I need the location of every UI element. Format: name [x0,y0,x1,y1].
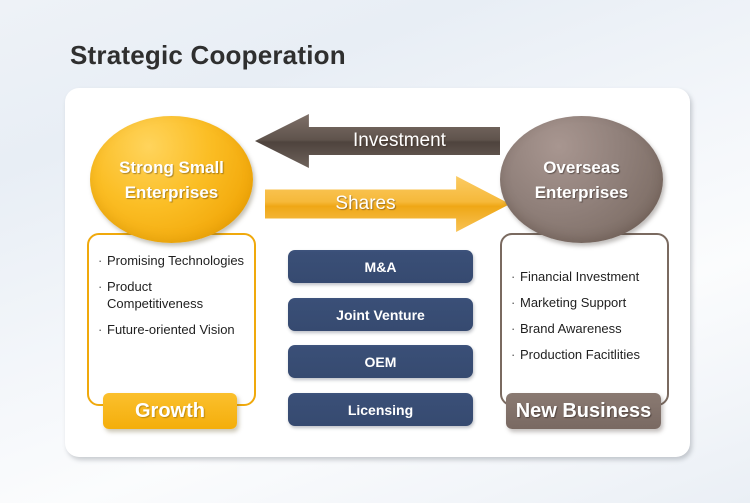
list-item-label: Production Facitlities [520,346,663,363]
bullet-dot-icon: · [98,278,107,295]
right-entity-line-1: Overseas [543,155,620,180]
bullet-dot-icon: · [98,321,107,338]
right-entity-line-2: Enterprises [535,180,629,205]
arrow-shares-label: Shares [335,193,395,215]
list-item: · Marketing Support [511,294,663,311]
list-item-label: Financial Investment [520,268,663,285]
list-item: · Product Competitiveness [98,278,248,312]
bullet-dot-icon: · [511,346,520,363]
list-item-label: Product Competitiveness [107,278,248,312]
arrow-investment-label: Investment [353,130,446,152]
list-item-label: Future-oriented Vision [107,321,248,338]
bullet-dot-icon: · [98,252,107,269]
right-entity-ellipse: Overseas Enterprises [500,116,663,243]
list-item: · Future-oriented Vision [98,321,248,338]
right-outcome-pill: New Business [506,393,661,429]
left-bullet-list: · Promising Technologies · Product Compe… [98,252,248,347]
list-item-label: Brand Awareness [520,320,663,337]
bullet-dot-icon: · [511,294,520,311]
left-outcome-pill: Growth [103,393,237,429]
right-bullet-list: · Financial Investment · Marketing Suppo… [511,268,663,372]
list-item: · Financial Investment [511,268,663,285]
list-item: · Production Facitlities [511,346,663,363]
list-item: · Brand Awareness [511,320,663,337]
page-title: Strategic Cooperation [70,40,346,71]
left-entity-line-2: Enterprises [125,180,219,205]
bullet-dot-icon: · [511,268,520,285]
center-bar-oem: OEM [288,345,473,378]
slide-canvas: Strategic Cooperation Investment Shares … [0,0,750,503]
list-item-label: Promising Technologies [107,252,248,269]
center-bar-licensing: Licensing [288,393,473,426]
center-bar-m-and-a: M&A [288,250,473,283]
bullet-dot-icon: · [511,320,520,337]
center-bar-joint-venture: Joint Venture [288,298,473,331]
left-entity-ellipse: Strong Small Enterprises [90,116,253,243]
list-item: · Promising Technologies [98,252,248,269]
list-item-label: Marketing Support [520,294,663,311]
left-entity-line-1: Strong Small [119,155,224,180]
